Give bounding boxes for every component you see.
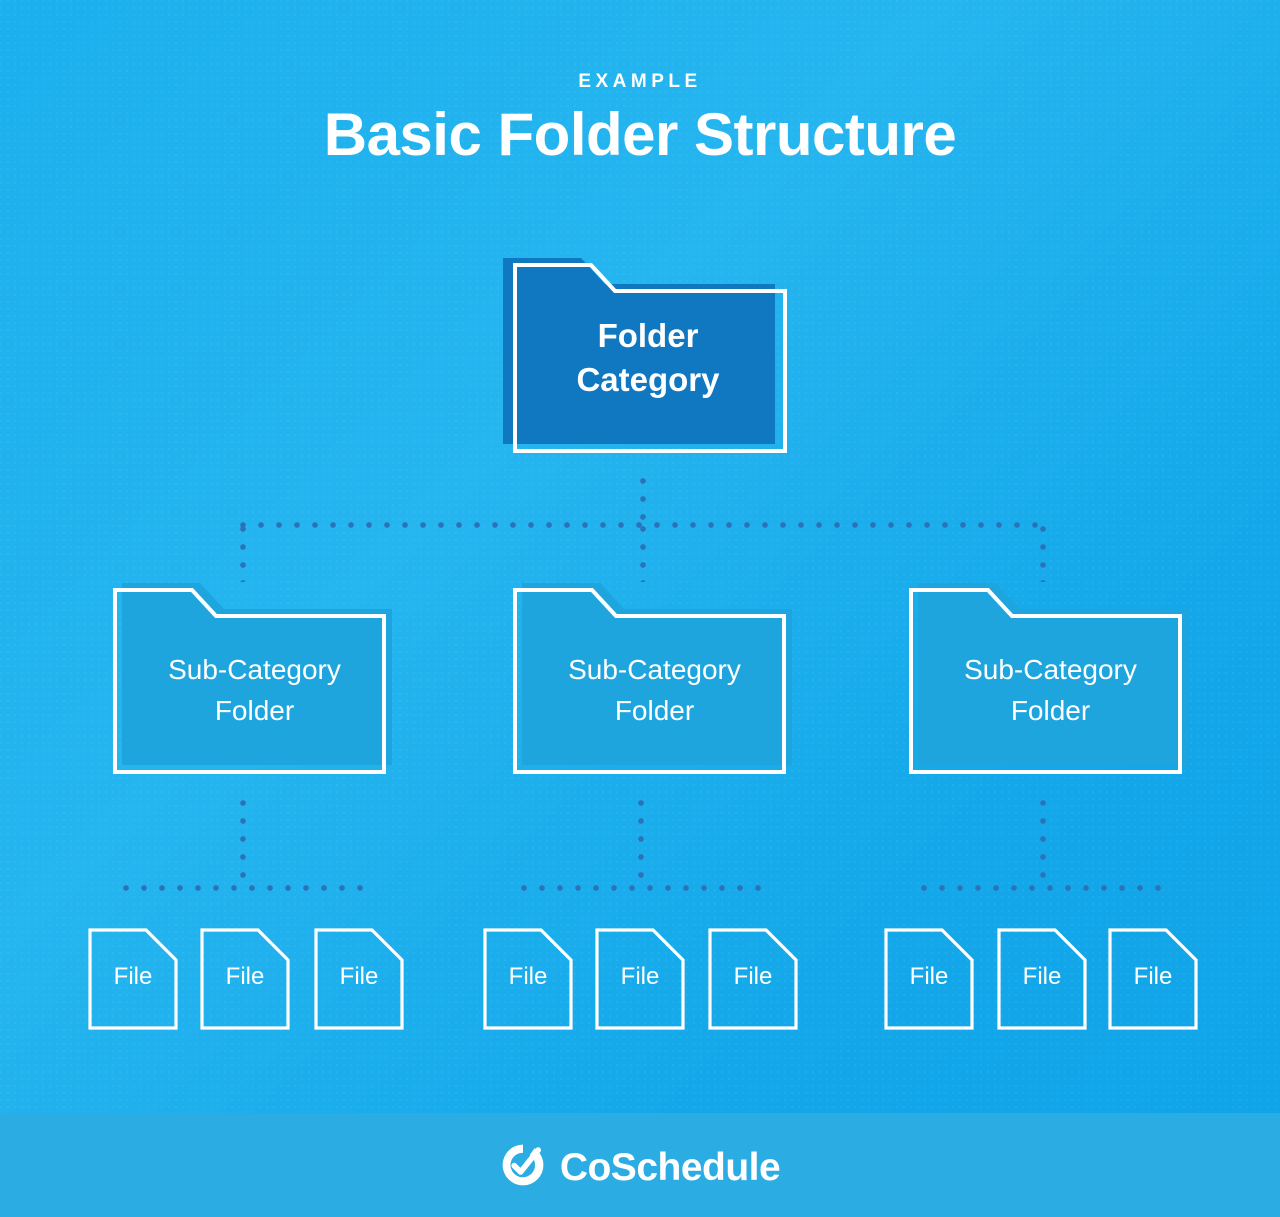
file-shape (1108, 928, 1198, 1030)
file-outline (485, 930, 571, 1028)
root-folder-shape (503, 258, 793, 458)
sub-folder-fill-1 (122, 583, 392, 765)
file-outline (90, 930, 176, 1028)
sub-folder-fill-3 (918, 583, 1188, 765)
footer-band: CoSchedule (0, 1113, 1280, 1217)
file-shape (595, 928, 685, 1030)
connector-branch-1-down (240, 800, 246, 886)
connector-bus-to-branch-3 (1040, 526, 1046, 582)
connector-bus-to-branch-2 (640, 526, 646, 582)
file-shape (884, 928, 974, 1030)
file-node-2-3[interactable]: File (708, 928, 798, 1030)
connector-bus-to-branch-1 (240, 526, 246, 582)
eyebrow-label: EXAMPLE (0, 70, 1280, 94)
sub-folder-node-2[interactable]: Sub-Category Folder (512, 583, 797, 778)
infographic-canvas: EXAMPLE Basic Folder Structure Folder Ca… (0, 0, 1280, 1217)
file-node-1-2[interactable]: File (200, 928, 290, 1030)
file-node-3-3[interactable]: File (1108, 928, 1198, 1030)
file-node-1-3[interactable]: File (314, 928, 404, 1030)
file-node-2-2[interactable]: File (595, 928, 685, 1030)
coschedule-check-circle-icon (500, 1142, 546, 1193)
file-node-2-1[interactable]: File (483, 928, 573, 1030)
root-folder-node[interactable]: Folder Category (503, 258, 793, 458)
sub-folder-node-3[interactable]: Sub-Category Folder (908, 583, 1193, 778)
file-node-3-2[interactable]: File (997, 928, 1087, 1030)
sub-folder-shape-1 (112, 583, 397, 778)
connector-file-bus-3 (921, 885, 1161, 891)
connector-branch-2-down (638, 800, 644, 886)
file-shape (314, 928, 404, 1030)
file-node-3-1[interactable]: File (884, 928, 974, 1030)
file-outline (999, 930, 1085, 1028)
file-outline (886, 930, 972, 1028)
file-outline (1110, 930, 1196, 1028)
connector-file-bus-1 (123, 885, 363, 891)
sub-folder-node-1[interactable]: Sub-Category Folder (112, 583, 397, 778)
file-shape (708, 928, 798, 1030)
file-node-1-1[interactable]: File (88, 928, 178, 1030)
brand-name: CoSchedule (560, 1145, 780, 1191)
connector-root-down (640, 478, 646, 526)
connector-file-bus-2 (521, 885, 761, 891)
brand-logo: CoSchedule (0, 1142, 1280, 1193)
header: EXAMPLE Basic Folder Structure (0, 70, 1280, 172)
file-shape (483, 928, 573, 1030)
file-outline (316, 930, 402, 1028)
file-shape (88, 928, 178, 1030)
sub-folder-fill-2 (522, 583, 792, 765)
file-outline (597, 930, 683, 1028)
connector-branch-3-down (1040, 800, 1046, 886)
root-folder-fill (503, 258, 775, 444)
sub-folder-shape-2 (512, 583, 797, 778)
file-shape (200, 928, 290, 1030)
file-outline (202, 930, 288, 1028)
file-outline (710, 930, 796, 1028)
file-shape (997, 928, 1087, 1030)
page-title: Basic Folder Structure (0, 98, 1280, 172)
sub-folder-shape-3 (908, 583, 1193, 778)
